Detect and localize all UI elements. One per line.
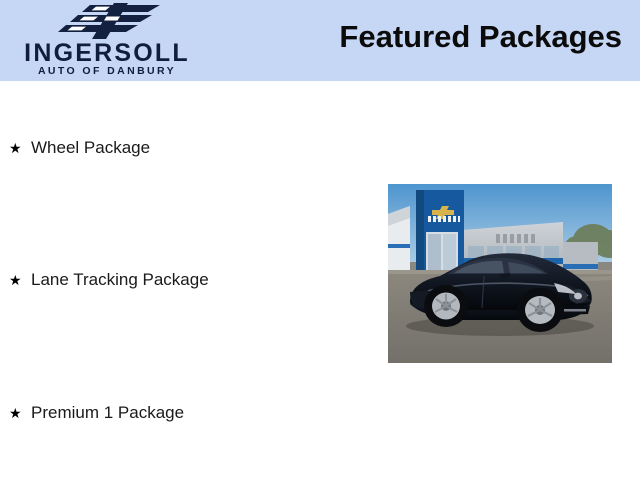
brand-logo: INGERSOLL AUTO OF DANBURY bbox=[0, 0, 215, 81]
brand-tagline: AUTO OF DANBURY bbox=[9, 65, 205, 77]
star-bullet-icon: ★ bbox=[9, 401, 31, 425]
package-label: Premium 1 Package bbox=[31, 401, 184, 425]
package-label: Wheel Package bbox=[31, 136, 150, 160]
brand-wordmark: INGERSOLL bbox=[9, 40, 205, 66]
star-bullet-icon: ★ bbox=[9, 136, 31, 160]
page-title: Featured Packages bbox=[339, 19, 622, 55]
winged-emblem-icon bbox=[48, 3, 166, 39]
vehicle-photo-illustration bbox=[388, 184, 612, 363]
list-item: ★ Premium 1 Package bbox=[9, 401, 184, 425]
package-label: Lane Tracking Package bbox=[31, 268, 209, 292]
header-band: INGERSOLL AUTO OF DANBURY Featured Packa… bbox=[0, 0, 640, 81]
list-item: ★ Lane Tracking Package bbox=[9, 268, 209, 292]
star-bullet-icon: ★ bbox=[9, 268, 31, 292]
list-item: ★ Wheel Package bbox=[9, 136, 150, 160]
vehicle-photo bbox=[388, 184, 612, 363]
